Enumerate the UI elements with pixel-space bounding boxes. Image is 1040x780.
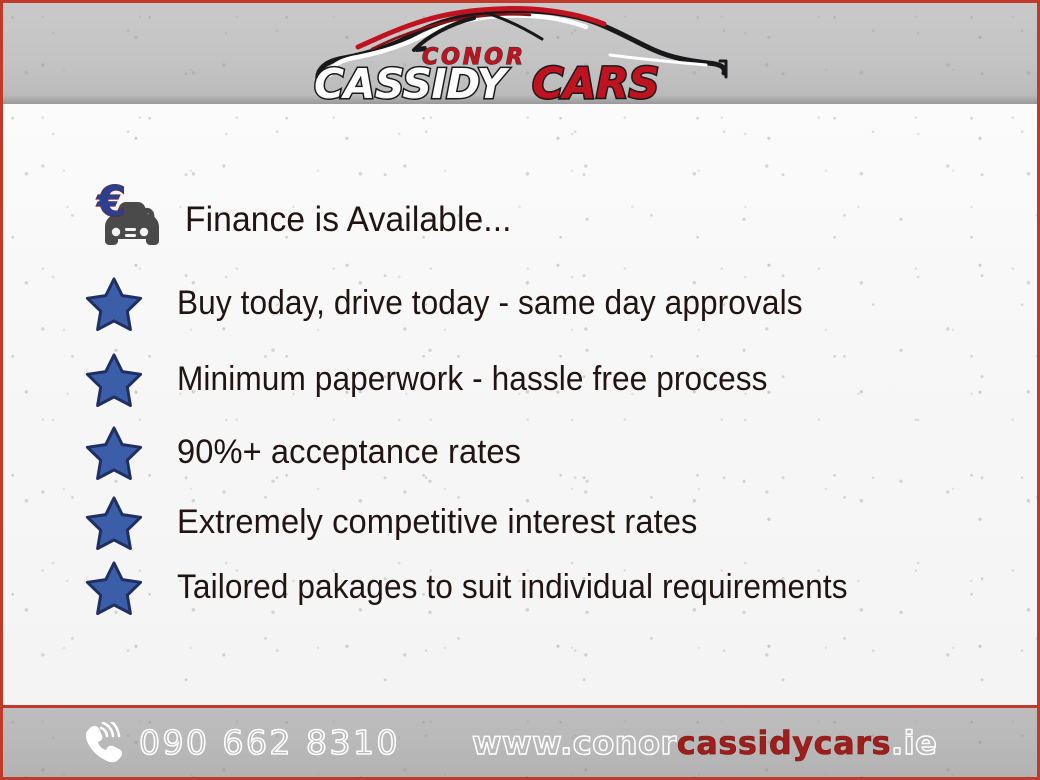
list-item: € Finance is Available... [85, 174, 1007, 266]
star-icon [85, 276, 177, 332]
website-prefix: www.conor [472, 724, 677, 762]
list-item-label: 90%+ acceptance rates [177, 435, 521, 471]
benefit-list: € Finance is Available... Buy today, dri… [85, 174, 1007, 618]
phone-ringing-icon [81, 722, 125, 764]
star-icon [85, 425, 177, 481]
list-item: Minimum paperwork - hassle free process [85, 342, 1007, 418]
svg-text:€: € [96, 183, 126, 226]
euro-symbol-icon: € [96, 183, 126, 226]
list-item-label: Finance is Available... [185, 202, 512, 239]
list-item-label: Tailored pakages to suit individual requ… [177, 570, 848, 606]
list-item: 90%+ acceptance rates [85, 418, 1007, 488]
star-icon [85, 560, 177, 616]
website-highlight: cassidycars [677, 724, 891, 762]
star-icon [85, 495, 177, 551]
header-bottom-shadow [3, 95, 1037, 104]
list-item-label: Buy today, drive today - same day approv… [177, 286, 803, 322]
footer-band: 090 662 8310 www.conorcassidycars.ie [3, 705, 1037, 777]
website-suffix: .ie [891, 724, 937, 762]
star-icon [85, 352, 177, 408]
phone-number[interactable]: 090 662 8310 [139, 723, 400, 762]
list-item-label: Extremely competitive interest rates [177, 505, 697, 541]
advert-canvas: CONOR CASSIDY CARS [0, 0, 1040, 780]
list-item: Buy today, drive today - same day approv… [85, 266, 1007, 342]
list-item: Extremely competitive interest rates [85, 488, 1007, 558]
brand-logo[interactable]: CONOR CASSIDY CARS [310, 3, 730, 104]
header-band: CONOR CASSIDY CARS [3, 3, 1037, 104]
car-euro-finance-icon: € [85, 183, 185, 257]
website-url[interactable]: www.conorcassidycars.ie [472, 724, 937, 762]
list-item: Tailored pakages to suit individual requ… [85, 558, 1007, 618]
main-content: € Finance is Available... Buy today, dri… [3, 104, 1037, 708]
list-item-label: Minimum paperwork - hassle free process [177, 362, 768, 398]
